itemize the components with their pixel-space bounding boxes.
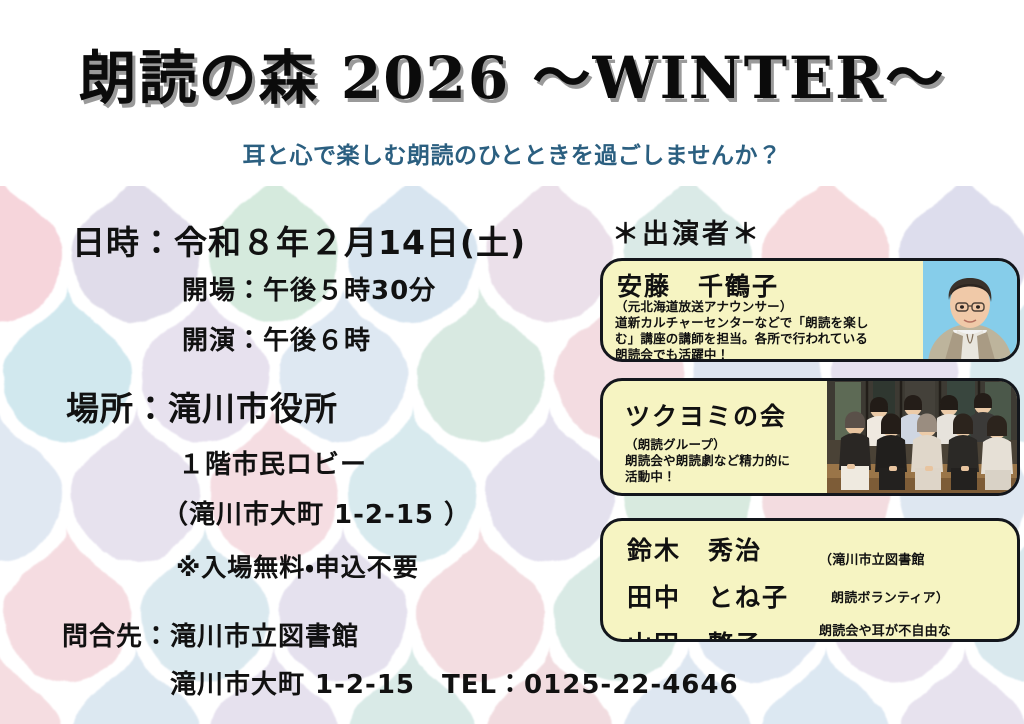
performers-column: ＊出演者＊ 安藤 千鶴子 （元北海道放送アナウンサー） 道新カルチャーセンターな…	[596, 200, 1024, 724]
performer-card-volunteers: 鈴木 秀治 田中 とね子 山田 整子 （滝川市立図書館 朗読ボランティア） 朗読…	[600, 518, 1020, 642]
performer-name: ツクヨミの会	[625, 397, 787, 433]
performer-card-ando: 安藤 千鶴子 （元北海道放送アナウンサー） 道新カルチャーセンターなどで「朗読を…	[600, 258, 1020, 362]
doors-open-time: 開場：午後５時30分	[182, 270, 436, 307]
admission-note: ※入場無料・申込不要	[176, 548, 419, 584]
performer-name: 山田 整子	[627, 625, 827, 642]
performer-bio-head: （滝川市立図書館	[819, 552, 1019, 569]
portrait-photo-ando	[923, 261, 1017, 359]
performer-bio: （朗読グループ） 朗読会や朗読劇など精力的に 活動中！	[625, 437, 855, 485]
venue-name: 場所：滝川市役所	[66, 382, 338, 430]
show-start-time: 開演：午後６時	[182, 320, 371, 357]
performer-name: 安藤 千鶴子	[617, 267, 779, 303]
performer-name-list: 鈴木 秀治 田中 とね子 山田 整子	[627, 531, 827, 642]
performer-name: 田中 とね子	[627, 578, 827, 614]
page-title: 朗読の森 2026 ～WINTER～	[0, 48, 1024, 109]
venue-address: （滝川市大町 1-2-15 ）	[162, 494, 471, 531]
performer-name: 鈴木 秀治	[627, 531, 827, 567]
event-date: 日時：令和８年２月14日(土)	[72, 216, 526, 264]
contact-organization: 問合先：滝川市立図書館	[62, 616, 359, 653]
performer-bio-body: 朗読会や耳が不自由な 方向けの朗読ＣＤ制作 を中心に活動中！	[819, 623, 1019, 642]
venue-floor: １階市民ロビー	[178, 444, 367, 481]
performer-bio: （元北海道放送アナウンサー） 道新カルチャーセンターなどで「朗読を楽し む」講座…	[615, 299, 915, 362]
performers-heading: ＊出演者＊	[612, 212, 762, 251]
page-subtitle: 耳と心で楽しむ朗読のひとときを過ごしませんか？	[0, 136, 1024, 170]
performer-bio-head2: 朗読ボランティア）	[819, 590, 1019, 607]
performer-bio-group: （滝川市立図書館 朗読ボランティア） 朗読会や耳が不自由な 方向けの朗読ＣＤ制作…	[819, 535, 1019, 642]
performer-card-tsukuyomi: ツクヨミの会 （朗読グループ） 朗読会や朗読劇など精力的に 活動中！	[600, 378, 1020, 496]
header-band: 朗読の森 2026 ～WINTER～ 耳と心で楽しむ朗読のひとときを過ごしません…	[0, 0, 1024, 186]
event-details-column: 日時：令和８年２月14日(土) 開場：午後５時30分 開演：午後６時 場所：滝川…	[0, 196, 600, 724]
group-photo-tsukuyomi	[827, 381, 1017, 493]
poster-canvas: 朗読の森 2026 ～WINTER～ 耳と心で楽しむ朗読のひとときを過ごしません…	[0, 0, 1024, 724]
